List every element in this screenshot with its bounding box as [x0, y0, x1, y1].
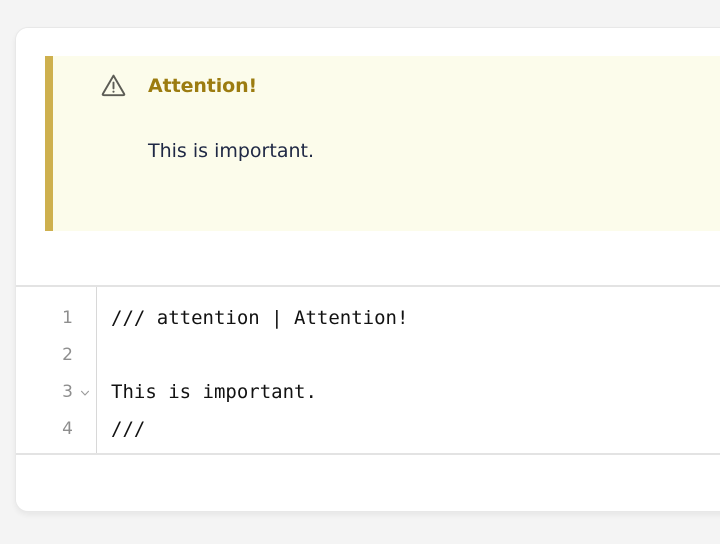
- code-line-list: 1/// attention | Attention!23This is imp…: [16, 300, 720, 448]
- attention-admonition: Attention! This is important.: [45, 56, 720, 231]
- line-number: 1: [62, 310, 73, 327]
- line-number-gutter: 3: [16, 374, 81, 411]
- warning-triangle-icon: [100, 72, 127, 99]
- source-code-pane[interactable]: 1/// attention | Attention!23This is imp…: [16, 287, 720, 455]
- line-number-gutter: 2: [16, 337, 81, 374]
- code-line-row[interactable]: 2: [16, 337, 720, 374]
- preview-card: Attention! This is important. 1/// atten…: [15, 27, 720, 512]
- line-number: 3: [62, 384, 73, 401]
- code-line-text[interactable]: /// attention | Attention!: [81, 309, 720, 328]
- line-number: 2: [62, 347, 73, 364]
- code-line-text[interactable]: This is important.: [81, 383, 720, 402]
- chevron-down-icon[interactable]: [79, 387, 91, 399]
- line-number-gutter: 4: [16, 411, 81, 448]
- rendered-preview-pane: Attention! This is important.: [16, 28, 720, 287]
- admonition-body-text: This is important.: [148, 140, 314, 162]
- code-line-row[interactable]: 4///: [16, 411, 720, 448]
- admonition-header: Attention!: [100, 72, 257, 99]
- code-line-row[interactable]: 1/// attention | Attention!: [16, 300, 720, 337]
- code-line-row[interactable]: 3This is important.: [16, 374, 720, 411]
- card-footer: [16, 455, 720, 509]
- line-number: 4: [62, 421, 73, 438]
- line-number-gutter: 1: [16, 300, 81, 337]
- admonition-title: Attention!: [148, 75, 257, 97]
- code-line-text[interactable]: ///: [81, 420, 720, 439]
